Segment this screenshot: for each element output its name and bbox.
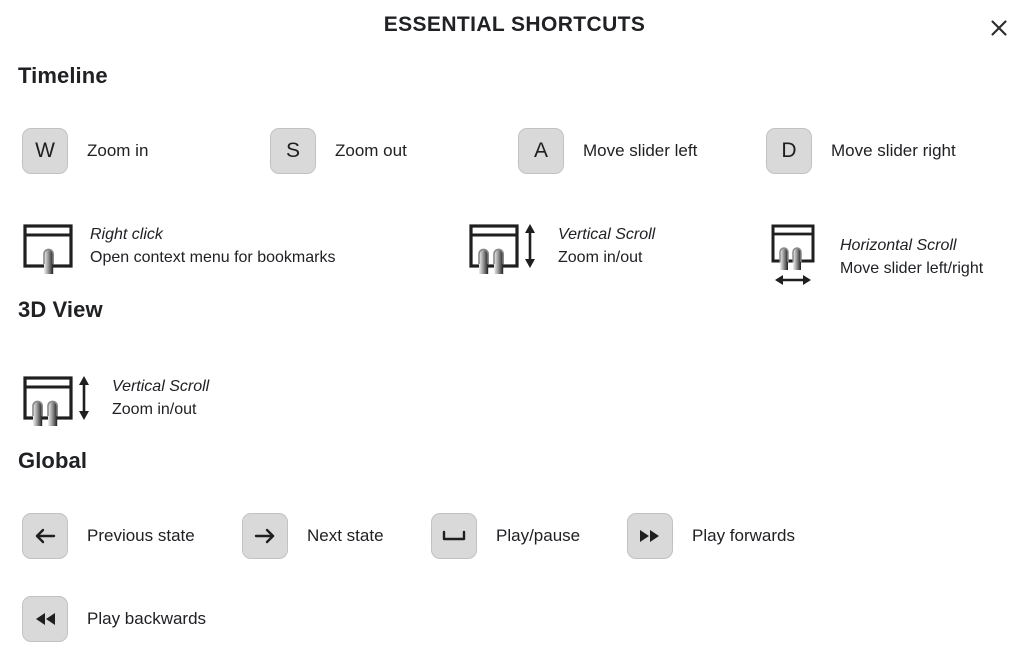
section-heading-3dview: 3D View: [18, 297, 103, 323]
arrow-left-icon[interactable]: [22, 513, 68, 559]
mouse-action-label: Vertical Scroll: [112, 375, 209, 398]
shortcut-label: Zoom out: [335, 141, 407, 161]
mouse-text-horizontal-scroll: Horizontal Scroll Move slider left/right: [840, 234, 983, 280]
spacebar-icon[interactable]: [431, 513, 477, 559]
mouse-text-vertical-scroll-3dview: Vertical Scroll Zoom in/out: [112, 375, 209, 421]
shortcut-label: Next state: [307, 526, 384, 546]
key-s-icon[interactable]: S: [270, 128, 316, 174]
shortcut-label: Move slider left: [583, 141, 697, 161]
mouse-text-vertical-scroll: Vertical Scroll Zoom in/out: [558, 223, 655, 269]
play-forwards-icon[interactable]: [627, 513, 673, 559]
shortcut-row-move-slider-left: A Move slider left: [518, 128, 697, 174]
shortcut-label: Play backwards: [87, 609, 206, 629]
mouse-action-label: Horizontal Scroll: [840, 234, 983, 257]
mouse-action-label: Right click: [90, 223, 335, 246]
shortcut-row-play-pause: Play/pause: [431, 513, 580, 559]
mouse-horizontal-scroll-icon: [768, 222, 826, 292]
mouse-desc-label: Move slider left/right: [840, 257, 983, 280]
mouse-action-label: Vertical Scroll: [558, 223, 655, 246]
key-w-icon[interactable]: W: [22, 128, 68, 174]
play-backwards-icon[interactable]: [22, 596, 68, 642]
close-button[interactable]: [983, 12, 1015, 44]
shortcut-row-next-state: Next state: [242, 513, 384, 559]
shortcut-row-play-backwards: Play backwards: [22, 596, 206, 642]
shortcut-row-vertical-scroll-3dview: Vertical Scroll Zoom in/out: [20, 370, 209, 426]
mouse-right-click-icon: [20, 218, 76, 274]
page-title: ESSENTIAL SHORTCUTS: [0, 13, 1029, 37]
close-icon: [989, 18, 1009, 38]
shortcut-label: Play forwards: [692, 526, 795, 546]
shortcut-label: Zoom in: [87, 141, 148, 161]
key-a-icon[interactable]: A: [518, 128, 564, 174]
shortcut-row-move-slider-right: D Move slider right: [766, 128, 956, 174]
shortcut-label: Move slider right: [831, 141, 956, 161]
mouse-desc-label: Open context menu for bookmarks: [90, 246, 335, 269]
mouse-vertical-scroll-icon: [20, 370, 98, 426]
arrow-right-icon[interactable]: [242, 513, 288, 559]
shortcut-row-zoom-out: S Zoom out: [270, 128, 407, 174]
shortcut-row-right-click: Right click Open context menu for bookma…: [20, 218, 335, 274]
shortcut-row-zoom-in: W Zoom in: [22, 128, 148, 174]
shortcut-row-horizontal-scroll: Horizontal Scroll Move slider left/right: [768, 222, 983, 292]
section-heading-timeline: Timeline: [18, 63, 108, 89]
shortcut-label: Play/pause: [496, 526, 580, 546]
section-heading-global: Global: [18, 448, 87, 474]
shortcut-label: Previous state: [87, 526, 195, 546]
mouse-vertical-scroll-icon: [466, 218, 544, 274]
mouse-desc-label: Zoom in/out: [112, 398, 209, 421]
shortcut-row-play-forwards: Play forwards: [627, 513, 795, 559]
dialog-header: ESSENTIAL SHORTCUTS: [0, 0, 1029, 56]
key-d-icon[interactable]: D: [766, 128, 812, 174]
shortcut-row-vertical-scroll-timeline: Vertical Scroll Zoom in/out: [466, 218, 655, 274]
mouse-text-right-click: Right click Open context menu for bookma…: [90, 223, 335, 269]
mouse-desc-label: Zoom in/out: [558, 246, 655, 269]
shortcut-row-previous-state: Previous state: [22, 513, 195, 559]
